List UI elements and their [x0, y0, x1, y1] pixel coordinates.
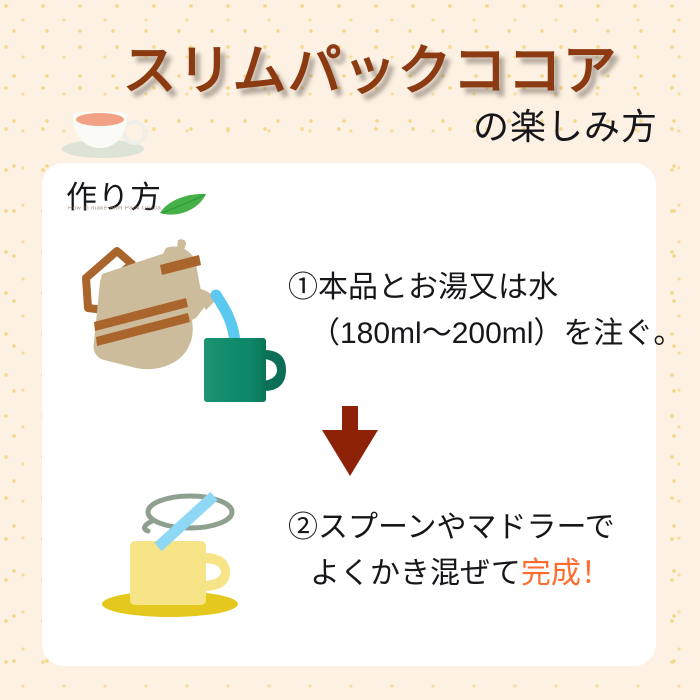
- step-1-line-2: （180ml〜200ml）を注ぐ。: [288, 311, 683, 357]
- poster-canvas: スリムパックココア の楽しみ方 作り方 How to make Slim Pac…: [0, 0, 700, 700]
- step-2-accent: 完成！: [521, 557, 611, 590]
- yellow-mug-handle: [202, 553, 230, 591]
- green-mug-icon: [204, 338, 286, 402]
- howto-heading-romaji: How to make Slim Pack Cocoa: [68, 206, 161, 211]
- step-1-line-1: ①本品とお湯又は水: [288, 265, 683, 311]
- leaf-icon: [158, 193, 208, 217]
- step-2-text: ②スプーンやマドラーで よくかき混ぜて完成！: [288, 505, 615, 596]
- teacup-liquid: [76, 113, 124, 126]
- yellow-mug-with-stirrer-illustration: [92, 477, 272, 619]
- step-1-text: ①本品とお湯又は水 （180ml〜200ml）を注ぐ。: [288, 265, 683, 356]
- yellow-mug-body: [130, 541, 206, 605]
- down-arrow-icon: [308, 406, 392, 476]
- step-2-line-2: よくかき混ぜて完成！: [288, 551, 615, 597]
- kettle-icon: [86, 239, 216, 369]
- teacup-icon: [58, 98, 148, 164]
- page-title: スリムパックココア: [0, 26, 700, 105]
- howto-heading-group: 作り方 How to make Slim Pack Cocoa: [66, 172, 326, 228]
- stirrer-icon: [158, 496, 214, 547]
- kettle-pouring-into-mug-illustration: [74, 238, 304, 403]
- step-2-line-1: ②スプーンやマドラーで: [288, 505, 615, 551]
- page-subtitle: の楽しみ方: [473, 98, 658, 150]
- water-stream-icon: [216, 295, 235, 344]
- step-2-line-2-prefix: よくかき混ぜて: [310, 557, 521, 590]
